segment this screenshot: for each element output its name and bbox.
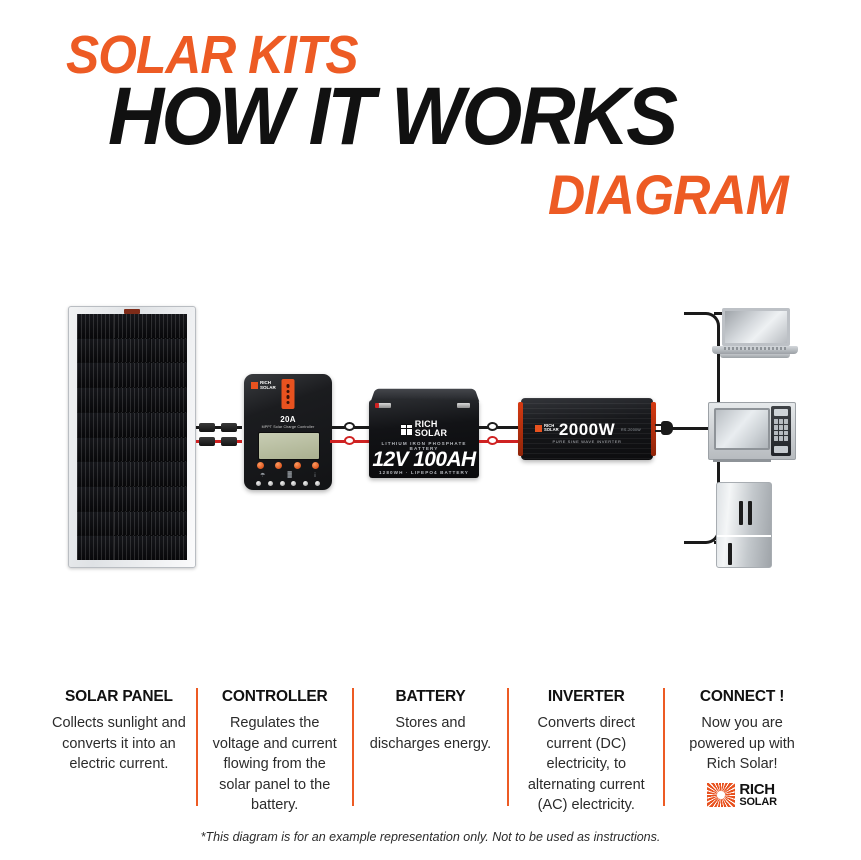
panel-cell bbox=[77, 413, 113, 437]
bulb-icon: ¡ bbox=[314, 472, 316, 479]
battery-spec-sub-label: 1280WH · LIFEPO4 BATTERY bbox=[369, 470, 479, 475]
controller-subtitle: MPPT Solar Charge Controller bbox=[244, 425, 332, 429]
footnote-disclaimer: *This diagram is for an example represen… bbox=[0, 830, 861, 844]
controller-terminal-row bbox=[256, 481, 320, 486]
info-title: CONTROLLER bbox=[208, 688, 342, 706]
battery-brand-logo: RICH SOLAR bbox=[369, 420, 479, 438]
panel-cell bbox=[151, 413, 187, 437]
microwave-keypad bbox=[774, 419, 788, 441]
refrigerator-handle bbox=[748, 501, 752, 525]
microwave-display bbox=[774, 409, 788, 416]
battery-brand-text: RICH SOLAR bbox=[415, 420, 448, 438]
rich-solar-logo: RICH SOLAR bbox=[694, 782, 790, 808]
info-column-inverter: INVERTER Converts direct current (DC) el… bbox=[507, 688, 663, 806]
controller-brand-text: RICH SOLAR bbox=[260, 381, 276, 390]
inverter-subtitle: PURE SINE WAVE INVERTER bbox=[521, 439, 653, 444]
inverter-graphic: RICH SOLAR 2000W PURE SINE WAVE INVERTER… bbox=[521, 398, 653, 460]
status-led bbox=[312, 462, 319, 469]
title-line-how-it-works: HOW IT WORKS bbox=[108, 70, 675, 164]
panel-cell bbox=[114, 487, 150, 511]
title-line-diagram: DIAGRAM bbox=[548, 162, 788, 227]
panel-junction-box bbox=[124, 309, 140, 314]
controller-vent-strip bbox=[282, 379, 295, 409]
info-body: Collects sunlight and converts it into a… bbox=[52, 713, 186, 775]
panel-cell bbox=[151, 363, 187, 387]
panel-cell-grid bbox=[77, 314, 187, 560]
ring-terminal-icon bbox=[344, 422, 355, 431]
panel-cell bbox=[77, 438, 113, 462]
vent-hole bbox=[286, 395, 290, 399]
info-title: SOLAR PANEL bbox=[52, 688, 186, 706]
charge-controller-graphic: RICH SOLAR 20A MPPT Solar Charge Control… bbox=[244, 374, 332, 490]
ac-plug-icon bbox=[655, 421, 673, 435]
panel-cell bbox=[77, 363, 113, 387]
battery-icon: ▓ bbox=[288, 472, 292, 479]
panel-cell bbox=[114, 363, 150, 387]
mc4-connector-icon bbox=[221, 437, 237, 446]
laptop-screen bbox=[722, 308, 790, 346]
battery-terminal-positive bbox=[378, 403, 391, 408]
laptop-graphic bbox=[712, 308, 798, 360]
panel-cell bbox=[77, 487, 113, 511]
ring-terminal-icon bbox=[344, 436, 355, 445]
panel-cell bbox=[151, 314, 187, 338]
panel-cell bbox=[151, 536, 187, 560]
controller-lcd-screen bbox=[258, 432, 320, 460]
panel-cell bbox=[77, 388, 113, 412]
panel-cell bbox=[77, 536, 113, 560]
panel-cell bbox=[114, 512, 150, 536]
keypad-key bbox=[779, 425, 783, 430]
panel-cell bbox=[151, 487, 187, 511]
microwave-base-trim bbox=[713, 459, 771, 462]
rich-solar-mark-icon bbox=[251, 382, 258, 389]
solar-panel-graphic bbox=[68, 306, 196, 568]
panel-cell bbox=[77, 512, 113, 536]
battery-terminal-negative bbox=[457, 403, 470, 408]
panel-cell bbox=[151, 512, 187, 536]
keypad-key bbox=[774, 425, 778, 430]
logo-line-solar: SOLAR bbox=[739, 797, 777, 808]
terminal-screw bbox=[268, 481, 273, 486]
sunburst-icon bbox=[707, 783, 735, 807]
info-body: Converts direct current (DC) electricity… bbox=[519, 713, 653, 816]
panel-cell bbox=[114, 413, 150, 437]
panel-cell bbox=[114, 462, 150, 486]
solar-panel-icon: ☂ bbox=[260, 472, 265, 479]
laptop-palmrest bbox=[720, 354, 790, 358]
panel-cell bbox=[114, 536, 150, 560]
terminal-screw bbox=[315, 481, 320, 486]
status-led bbox=[294, 462, 301, 469]
microwave-control-panel bbox=[771, 406, 791, 456]
info-body: Stores and discharges energy. bbox=[364, 713, 498, 754]
microwave-start-button bbox=[774, 446, 788, 453]
controller-amp-rating: 20A bbox=[244, 415, 332, 424]
panel-cell bbox=[77, 339, 113, 363]
keypad-key bbox=[784, 425, 788, 430]
keypad-key bbox=[779, 419, 783, 424]
terminal-screw bbox=[291, 481, 296, 486]
vent-hole bbox=[286, 384, 290, 388]
terminal-screw bbox=[280, 481, 285, 486]
mc4-connector-icon bbox=[221, 423, 237, 432]
info-title: INVERTER bbox=[519, 688, 653, 706]
refrigerator-door-seam bbox=[717, 535, 771, 537]
panel-cell bbox=[114, 388, 150, 412]
panel-cell bbox=[151, 388, 187, 412]
keypad-key bbox=[774, 419, 778, 424]
battery-graphic: RICH SOLAR LITHIUM IRON PHOSPHATE BATTER… bbox=[369, 388, 479, 478]
rich-solar-logo-text: RICH SOLAR bbox=[739, 782, 777, 808]
microwave-door bbox=[714, 408, 770, 450]
panel-cell bbox=[151, 462, 187, 486]
ring-terminal-icon bbox=[487, 422, 498, 431]
refrigerator-handle bbox=[728, 543, 732, 565]
keypad-key bbox=[779, 436, 783, 441]
mc4-connector-icon bbox=[199, 423, 215, 432]
panel-cell bbox=[151, 438, 187, 462]
info-column-controller: CONTROLLER Regulates the voltage and cur… bbox=[196, 688, 352, 806]
status-led bbox=[275, 462, 282, 469]
info-body: Regulates the voltage and current flowin… bbox=[208, 713, 342, 816]
panel-cell bbox=[77, 462, 113, 486]
info-columns: SOLAR PANEL Collects sunlight and conver… bbox=[42, 688, 819, 806]
info-title: CONNECT ! bbox=[675, 688, 809, 706]
terminal-screw bbox=[303, 481, 308, 486]
keypad-key bbox=[779, 431, 783, 436]
panel-cell bbox=[114, 314, 150, 338]
battery-spec-label: 12V 100AH bbox=[369, 448, 479, 472]
panel-cell bbox=[114, 438, 150, 462]
battery-front-face: RICH SOLAR LITHIUM IRON PHOSPHATE BATTER… bbox=[369, 400, 479, 478]
microwave-graphic bbox=[708, 402, 796, 460]
keypad-key bbox=[774, 436, 778, 441]
ring-terminal-icon bbox=[487, 436, 498, 445]
keypad-key bbox=[774, 431, 778, 436]
panel-cell bbox=[77, 314, 113, 338]
info-column-solar-panel: SOLAR PANEL Collects sunlight and conver… bbox=[42, 688, 196, 806]
info-column-battery: BATTERY Stores and discharges energy. bbox=[352, 688, 508, 806]
panel-cell bbox=[151, 339, 187, 363]
status-led bbox=[257, 462, 264, 469]
controller-icon-row: ☂ ▓ ¡ bbox=[260, 472, 316, 479]
info-body: Now you are powered up with Rich Solar! bbox=[675, 713, 809, 775]
controller-led-row bbox=[257, 462, 319, 469]
keypad-key bbox=[784, 431, 788, 436]
refrigerator-graphic bbox=[716, 482, 772, 568]
vent-hole bbox=[286, 390, 290, 394]
laptop-keyboard bbox=[724, 347, 786, 350]
keypad-key bbox=[784, 419, 788, 424]
logo-line-rich: RICH bbox=[739, 782, 777, 797]
info-column-connect: CONNECT ! Now you are powered up with Ri… bbox=[663, 688, 819, 806]
diagram-stage: RICH SOLAR 20A MPPT Solar Charge Control… bbox=[0, 250, 861, 650]
brand-line-2: SOLAR bbox=[260, 385, 276, 390]
inverter-model-label: RS-2000W bbox=[621, 428, 641, 432]
refrigerator-handle bbox=[739, 501, 743, 525]
keypad-key bbox=[784, 436, 788, 441]
controller-brand-logo: RICH SOLAR bbox=[251, 381, 276, 390]
panel-cell bbox=[114, 339, 150, 363]
rich-solar-mark-icon bbox=[401, 424, 412, 435]
terminal-screw bbox=[256, 481, 261, 486]
mc4-connector-icon bbox=[199, 437, 215, 446]
title-block: SOLAR KITS HOW IT WORKS DIAGRAM bbox=[0, 24, 861, 224]
vent-hole bbox=[286, 401, 290, 405]
brand-line-2: SOLAR bbox=[415, 428, 448, 438]
info-title: BATTERY bbox=[364, 688, 498, 706]
